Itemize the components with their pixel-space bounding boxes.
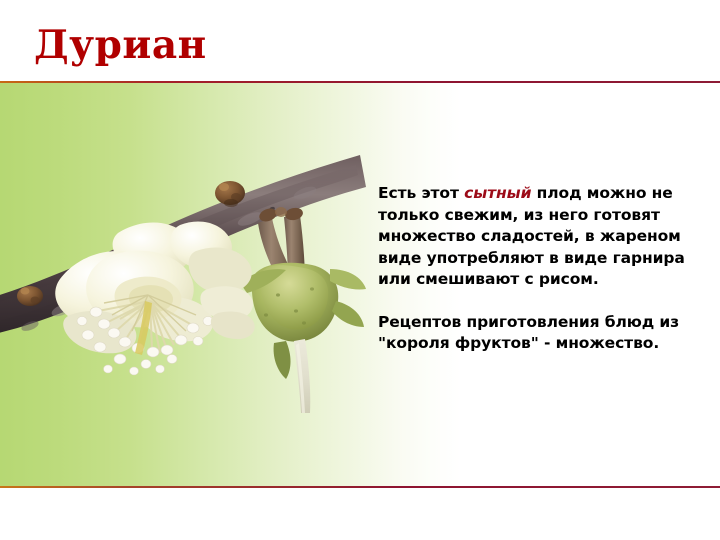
highlighted-word: сытный [464, 184, 531, 202]
content-band: Есть этот сытный плод можно не только св… [0, 83, 720, 486]
paragraph-spacer [378, 291, 690, 312]
paragraph-one-lead: Есть этот [378, 184, 464, 202]
slide-footer: Durian [0, 488, 720, 540]
pistil [294, 339, 310, 413]
paragraph-two: Рецептов приготовления блюд из "короля ф… [378, 312, 690, 355]
durian-flower-photo [0, 83, 420, 413]
slide-canvas: Дуриан [0, 0, 720, 540]
body-text-block: Есть этот сытный плод можно не только св… [378, 183, 690, 355]
paragraph-one: Есть этот сытный плод можно не только св… [378, 183, 690, 291]
branch-knob-lower [17, 286, 43, 306]
slide-header: Дуриан [0, 0, 720, 82]
page-title: Дуриан [34, 23, 207, 67]
